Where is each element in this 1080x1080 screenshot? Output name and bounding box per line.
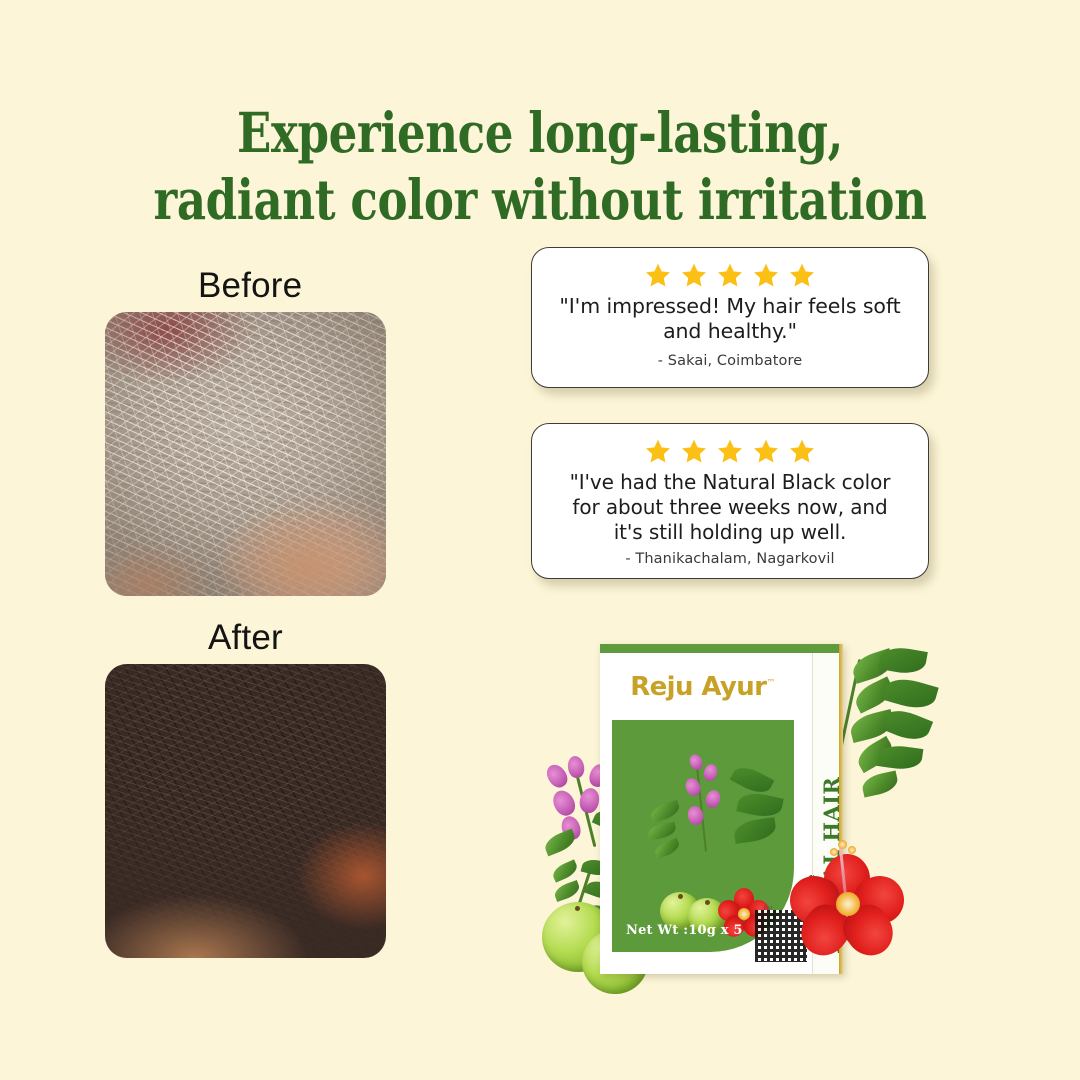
net-weight-label: Net Wt :10g x 5 <box>626 923 743 938</box>
star-icon <box>645 438 671 464</box>
flower-petal <box>688 752 705 771</box>
after-label: After <box>208 618 283 658</box>
leaf <box>860 770 899 797</box>
star-icon <box>681 262 707 288</box>
hibiscus-pollen <box>848 846 856 854</box>
leaf <box>733 817 778 844</box>
page-title-line-1: Experience long-lasting, <box>97 99 983 166</box>
star-icon <box>681 438 707 464</box>
product-image: Reju Ayur™ <box>520 612 960 1012</box>
star-icon <box>717 262 743 288</box>
star-icon <box>645 262 671 288</box>
hibiscus-center <box>738 908 750 920</box>
leaf <box>881 673 938 713</box>
testimonial-attribution: - Sakai, Coimbatore <box>558 353 902 369</box>
star-rating <box>558 262 902 288</box>
leaf <box>552 880 581 902</box>
testimonial-attribution: - Thanikachalam, Nagarkovil <box>558 551 902 567</box>
flower-petal <box>549 787 579 819</box>
flower-petal <box>702 763 719 783</box>
after-photo <box>105 664 386 958</box>
testimonial-quote: "I've had the Natural Black color for ab… <box>558 470 902 544</box>
leaf <box>542 829 578 857</box>
before-photo-scalp <box>105 312 386 596</box>
promotional-page: Experience long-lasting, radiant color w… <box>0 0 1080 1080</box>
leaf <box>648 800 681 824</box>
star-icon <box>789 262 815 288</box>
leaf <box>647 822 677 841</box>
flower-petal <box>566 755 586 779</box>
trademark-symbol: ™ <box>766 678 774 688</box>
brand-name: Reju Ayur <box>630 672 766 702</box>
star-icon <box>753 438 779 464</box>
leaf <box>736 790 784 821</box>
leaf-cluster-right <box>838 640 958 840</box>
before-photo <box>105 312 386 596</box>
hibiscus-flower <box>788 840 906 962</box>
hibiscus-pollen <box>838 840 847 849</box>
page-title-line-2: radiant color without irritation <box>97 166 983 233</box>
star-icon <box>717 438 743 464</box>
testimonial-quote: "I'm impressed! My hair feels soft and h… <box>558 294 902 345</box>
leaf <box>730 762 775 798</box>
testimonial-card: "I've had the Natural Black color for ab… <box>531 423 929 579</box>
package-herb-illustration <box>646 746 786 896</box>
hibiscus-pollen <box>830 848 838 856</box>
page-title: Experience long-lasting, radiant color w… <box>97 99 983 233</box>
brand-logo: Reju Ayur™ <box>600 672 805 702</box>
flower-petal <box>704 788 723 809</box>
after-photo-skin <box>105 664 386 958</box>
star-icon <box>789 438 815 464</box>
leaf <box>653 838 682 860</box>
before-label: Before <box>198 266 302 306</box>
star-icon <box>753 262 779 288</box>
package-top-bar <box>600 644 843 653</box>
testimonial-card: "I'm impressed! My hair feels soft and h… <box>531 247 929 388</box>
hibiscus-center <box>836 892 860 916</box>
star-rating <box>558 438 902 464</box>
